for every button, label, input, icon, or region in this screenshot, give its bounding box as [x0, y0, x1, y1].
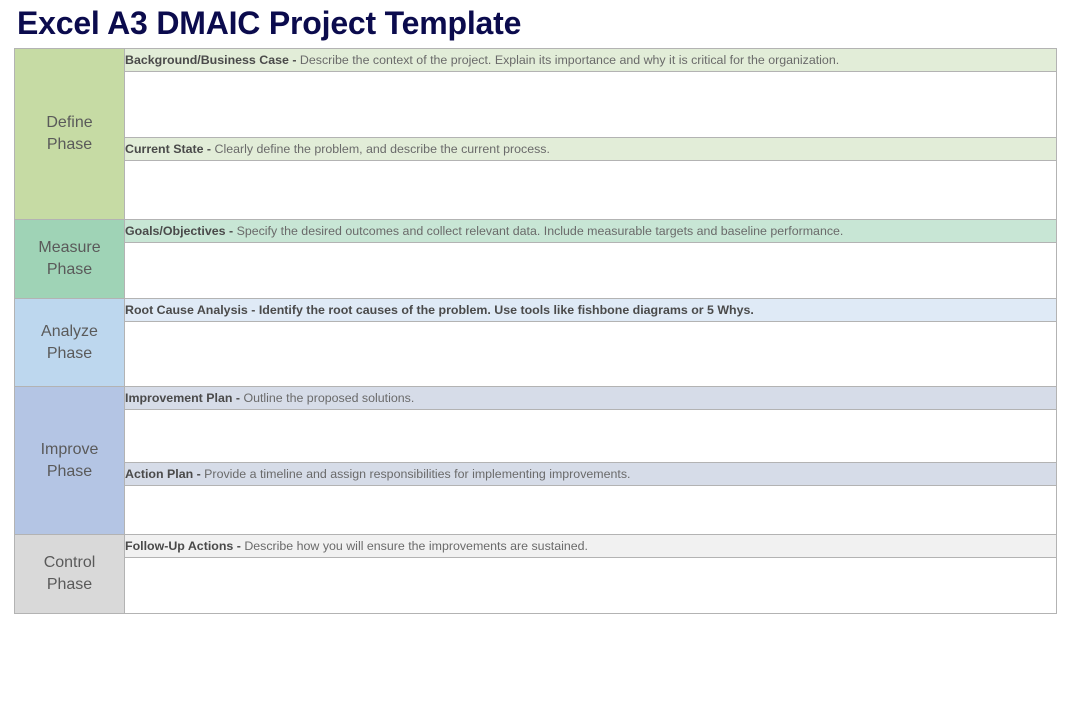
phase-label-cell-measure: MeasurePhase	[15, 220, 125, 299]
phase-label-line1: Control	[15, 552, 124, 574]
entry-row	[15, 486, 1057, 535]
section-prompt-body: Provide a timeline and assign responsibi…	[204, 467, 630, 481]
entry-row	[15, 72, 1057, 138]
section-prompt-title: Background/Business Case -	[125, 53, 300, 67]
section-prompt-cell: Action Plan - Provide a timeline and ass…	[125, 463, 1057, 486]
entry-row	[15, 558, 1057, 614]
phase-label-line1: Analyze	[15, 321, 124, 343]
section-entry-cell[interactable]	[125, 558, 1057, 614]
phase-label-line2: Phase	[15, 259, 124, 281]
section-prompt-title: Action Plan -	[125, 467, 204, 481]
section-prompt-body: Describe how you will ensure the improve…	[244, 539, 588, 553]
phase-label-line1: Define	[15, 112, 124, 134]
prompt-row: ImprovePhaseImprovement Plan - Outline t…	[15, 387, 1057, 410]
phase-label-cell-define: DefinePhase	[15, 49, 125, 220]
section-prompt-body: Specify the desired outcomes and collect…	[237, 224, 844, 238]
section-prompt-body: Clearly define the problem, and describe…	[215, 142, 550, 156]
prompt-row: Action Plan - Provide a timeline and ass…	[15, 463, 1057, 486]
section-prompt-cell: Goals/Objectives - Specify the desired o…	[125, 220, 1057, 243]
section-prompt-cell: Background/Business Case - Describe the …	[125, 49, 1057, 72]
phase-label-line2: Phase	[15, 343, 124, 365]
section-entry-cell[interactable]	[125, 486, 1057, 535]
phase-label-line2: Phase	[15, 134, 124, 156]
section-prompt-body: Describe the context of the project. Exp…	[300, 53, 839, 67]
section-prompt-title: Follow-Up Actions -	[125, 539, 244, 553]
phase-label-line1: Improve	[15, 439, 124, 461]
phase-label-cell-control: ControlPhase	[15, 535, 125, 614]
prompt-row: DefinePhaseBackground/Business Case - De…	[15, 49, 1057, 72]
section-prompt-cell: Root Cause Analysis - Identify the root …	[125, 299, 1057, 322]
section-prompt-cell: Current State - Clearly define the probl…	[125, 138, 1057, 161]
prompt-row: Current State - Clearly define the probl…	[15, 138, 1057, 161]
phase-label-line2: Phase	[15, 574, 124, 596]
entry-row	[15, 322, 1057, 387]
section-prompt-body: Identify the root causes of the problem.…	[259, 303, 754, 317]
entry-row	[15, 410, 1057, 463]
section-entry-cell[interactable]	[125, 410, 1057, 463]
section-entry-cell[interactable]	[125, 72, 1057, 138]
section-entry-cell[interactable]	[125, 322, 1057, 387]
section-prompt-body: Outline the proposed solutions.	[243, 391, 414, 405]
prompt-row: AnalyzePhaseRoot Cause Analysis - Identi…	[15, 299, 1057, 322]
section-prompt-title: Current State -	[125, 142, 215, 156]
dmaic-template-table: DefinePhaseBackground/Business Case - De…	[14, 48, 1057, 614]
section-entry-cell[interactable]	[125, 243, 1057, 299]
phase-label-cell-improve: ImprovePhase	[15, 387, 125, 535]
prompt-row: MeasurePhaseGoals/Objectives - Specify t…	[15, 220, 1057, 243]
entry-row	[15, 161, 1057, 220]
phase-label-line1: Measure	[15, 237, 124, 259]
section-prompt-cell: Improvement Plan - Outline the proposed …	[125, 387, 1057, 410]
entry-row	[15, 243, 1057, 299]
phase-label-cell-analyze: AnalyzePhase	[15, 299, 125, 387]
prompt-row: ControlPhaseFollow-Up Actions - Describe…	[15, 535, 1057, 558]
phase-label-line2: Phase	[15, 461, 124, 483]
section-prompt-cell: Follow-Up Actions - Describe how you wil…	[125, 535, 1057, 558]
page-title: Excel A3 DMAIC Project Template	[17, 1, 521, 45]
section-prompt-title: Improvement Plan -	[125, 391, 243, 405]
section-prompt-title: Root Cause Analysis -	[125, 303, 259, 317]
section-prompt-title: Goals/Objectives -	[125, 224, 237, 238]
section-entry-cell[interactable]	[125, 161, 1057, 220]
